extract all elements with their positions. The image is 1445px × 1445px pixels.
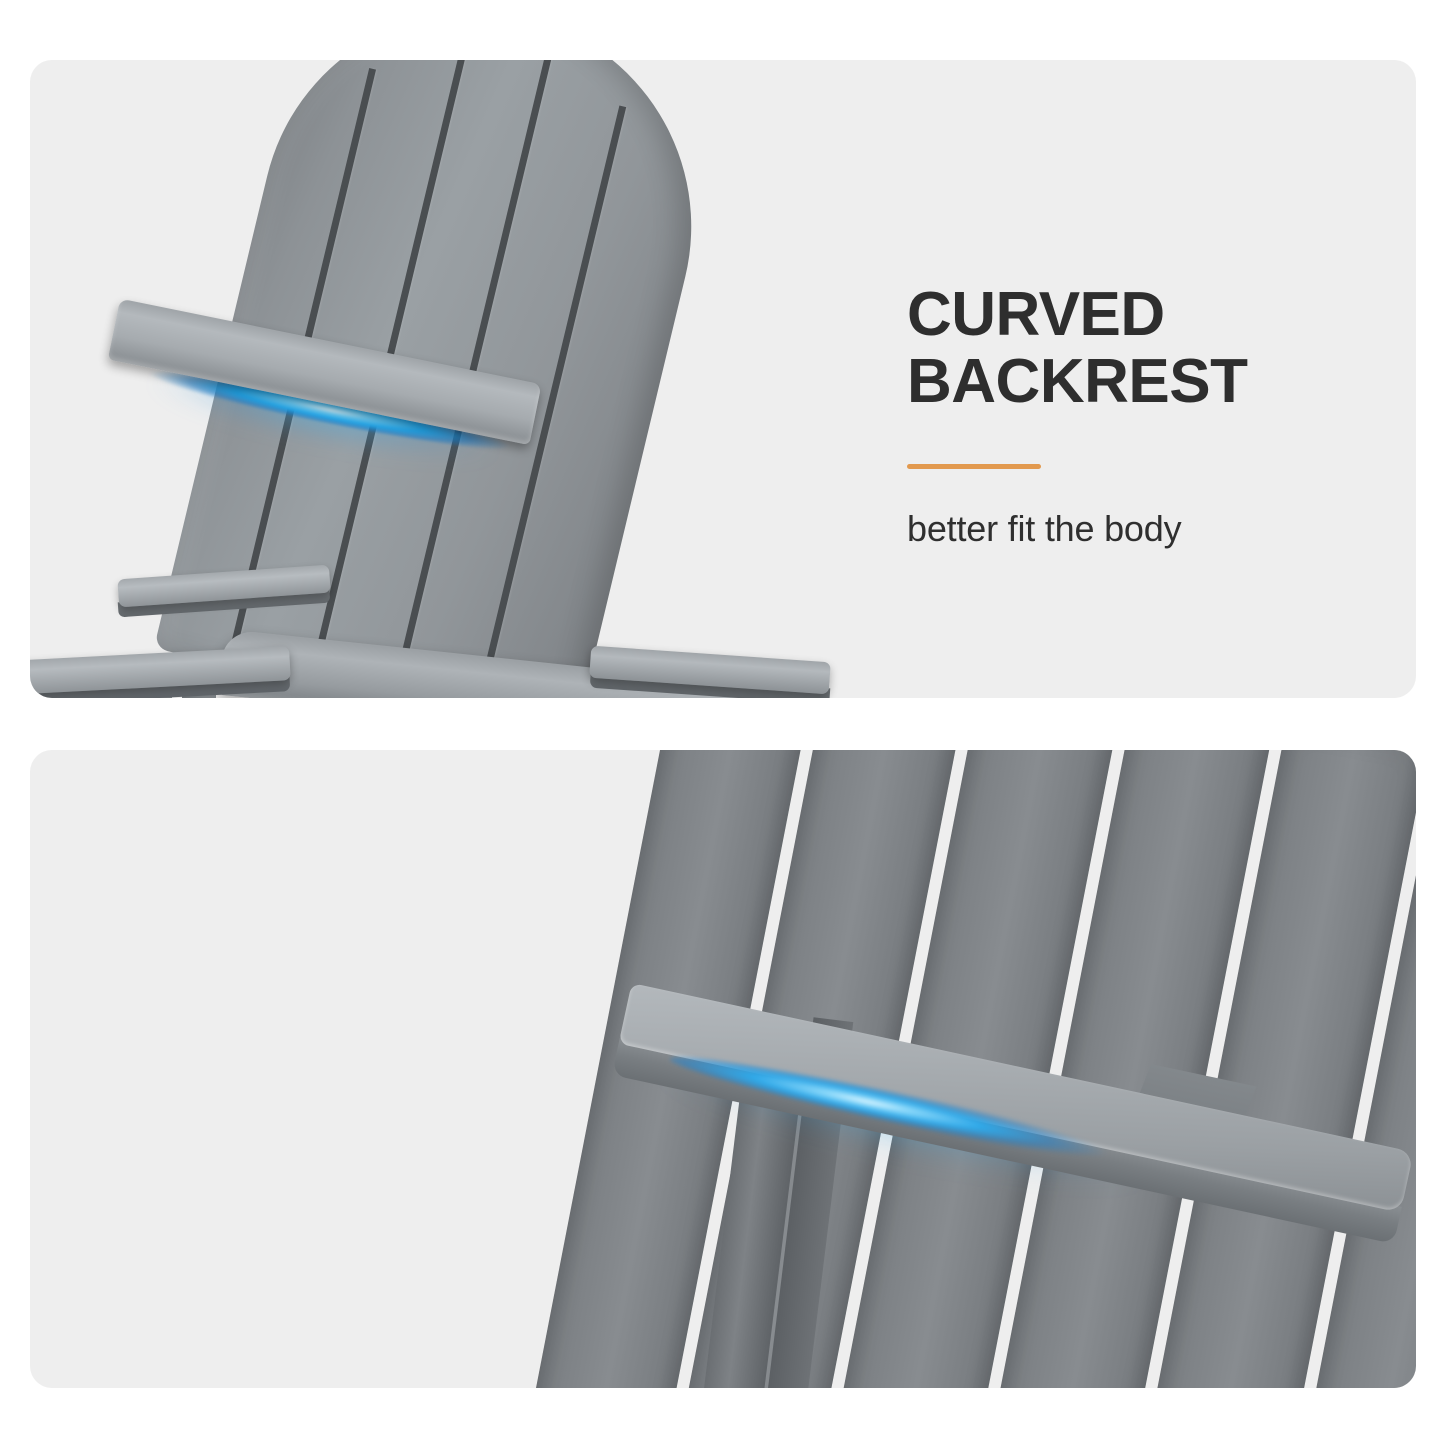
chair-armrest-illustration [30, 750, 1416, 1388]
feature-text-curved-backrest: CURVED BACKREST better fit the body [907, 282, 1387, 550]
feature-panel-wide-armrests: WIDE ARMRESTS for better arm relaxation [30, 750, 1416, 1388]
accent-divider [907, 464, 1041, 469]
feature-panel-curved-backrest: CURVED BACKREST better fit the body [30, 60, 1416, 698]
infographic-page: CURVED BACKREST better fit the body [0, 0, 1445, 1445]
feature-headline: CURVED BACKREST [907, 282, 1387, 416]
feature-subline: better fit the body [907, 508, 1387, 550]
